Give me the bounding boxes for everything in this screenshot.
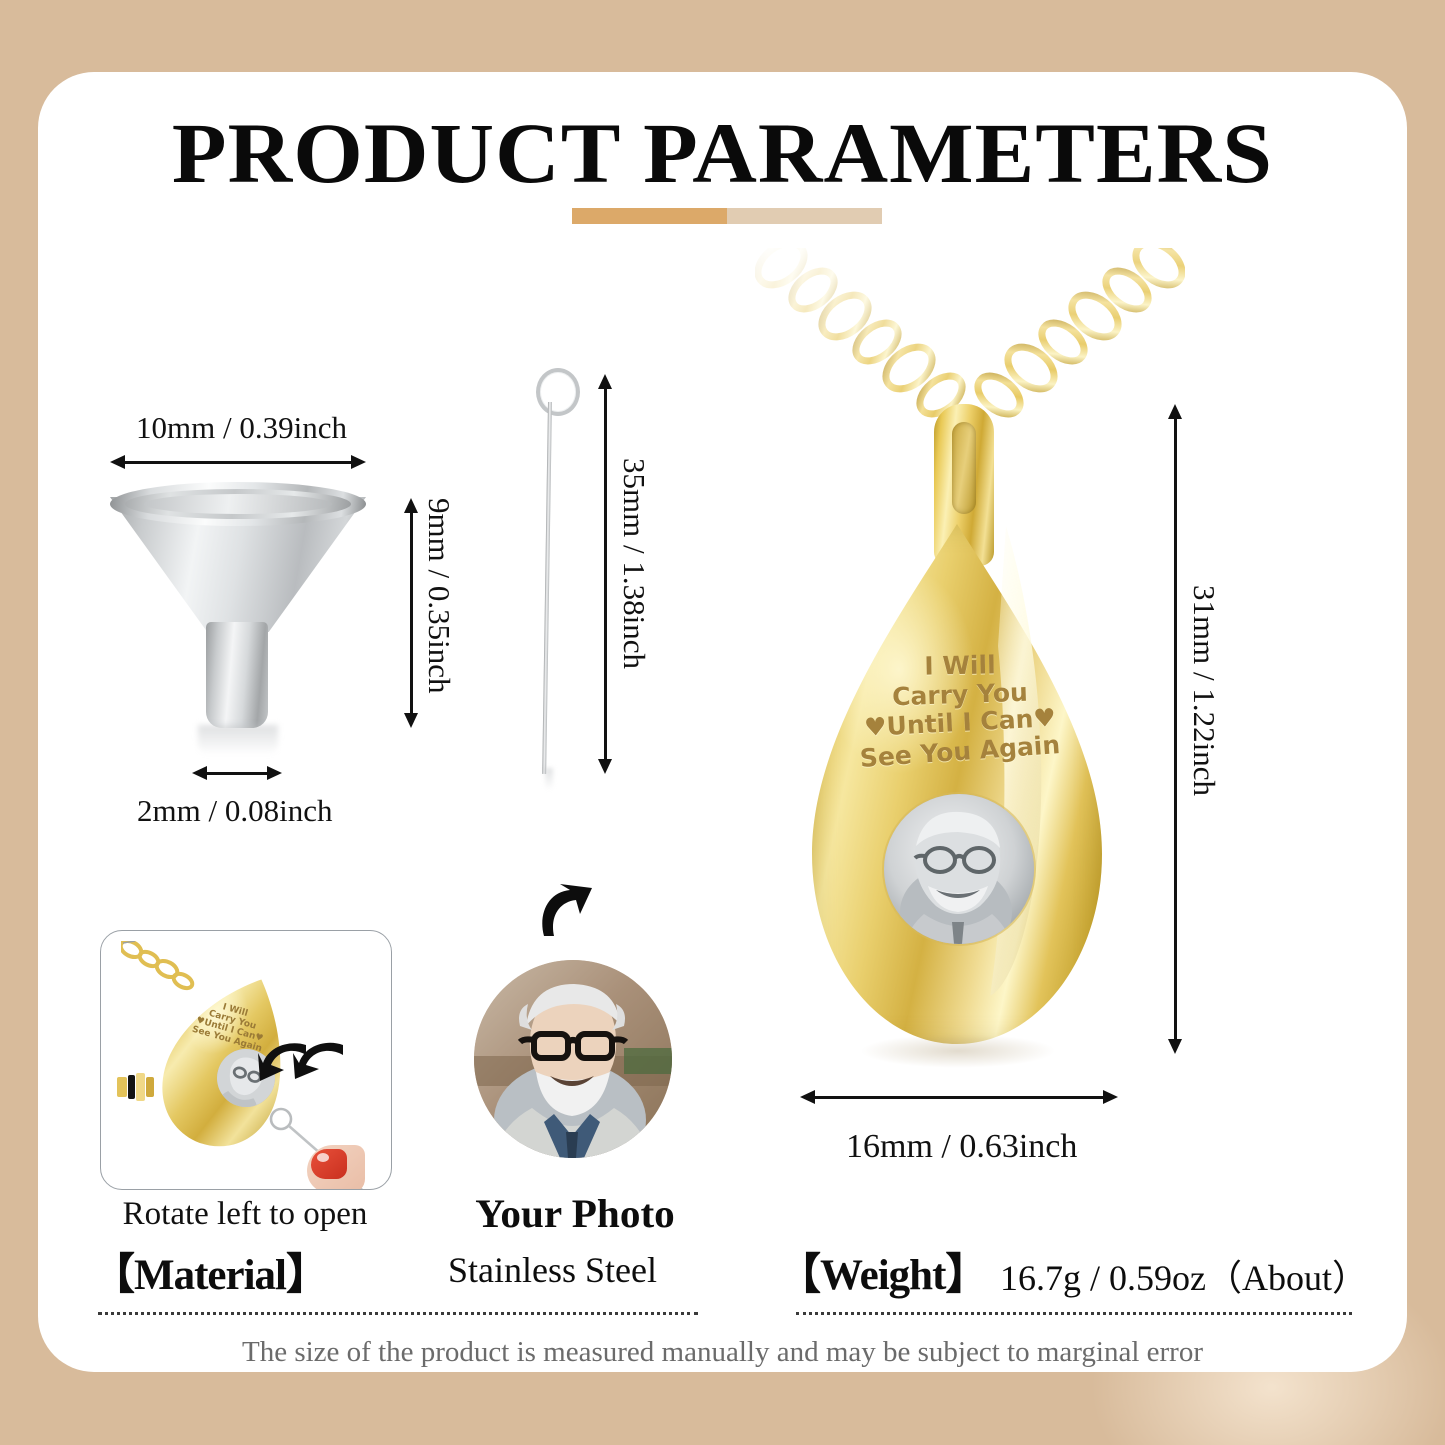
pendant-width-arrow [800, 1090, 1118, 1104]
funnel-spout [206, 622, 268, 728]
pin-length-arrow [598, 374, 612, 774]
weight-key: 【Weight】 [778, 1240, 987, 1302]
page-title: PRODUCT PARAMETERS [0, 103, 1445, 203]
pendant-height-arrow [1168, 404, 1182, 1054]
funnel-width-arrow [110, 455, 366, 469]
fingertip-illustration [307, 1137, 365, 1190]
pendant-photo-inset [884, 794, 1034, 944]
pendant-engraving: I Will Carry You ♥Until I Can♥ See You A… [850, 652, 1070, 766]
funnel-rim-inner2 [144, 494, 332, 514]
screw-cap-icon [115, 1069, 157, 1105]
weight-dotted-rule [796, 1312, 1352, 1315]
your-photo-caption: Your Photo [426, 1190, 725, 1237]
engraved-portrait-icon [884, 794, 1034, 944]
nail-gloss [317, 1153, 329, 1162]
your-photo-sample [474, 960, 672, 1158]
material-value: Stainless Steel [448, 1249, 657, 1291]
sample-portrait-photo [474, 960, 672, 1158]
infographic-root: PRODUCT PARAMETERS 10mm / 0.39inch 9mm /… [0, 0, 1445, 1445]
eye-pin-illustration [528, 368, 578, 778]
divider-segment-left [572, 208, 727, 224]
pin-length-label: 35mm / 1.38inch [616, 458, 652, 669]
eye-pin-shaft [542, 402, 552, 774]
eye-pin-loop [536, 368, 580, 416]
pendant-bail-hole [952, 422, 976, 514]
your-photo-arrow-icon [536, 884, 598, 940]
rotate-open-panel: I Will Carry You ♥Until I Can♥ See You A… [100, 930, 392, 1190]
funnel-illustration [110, 482, 366, 732]
measurement-disclaimer: The size of the product is measured manu… [0, 1336, 1445, 1369]
eye-pin-reflection [545, 768, 553, 790]
pendant-illustration: I Will Carry You ♥Until I Can♥ See You A… [812, 404, 1102, 1064]
funnel-width-label: 10mm / 0.39inch [136, 410, 347, 446]
pendant-width-label: 16mm / 0.63inch [846, 1128, 1077, 1166]
material-dotted-rule [98, 1312, 698, 1315]
fingernail [311, 1149, 347, 1179]
material-key: 【Material】 [92, 1240, 328, 1302]
rotate-open-caption: Rotate left to open [100, 1196, 390, 1233]
weight-value: 16.7g / 0.59oz（About） [1000, 1249, 1368, 1301]
funnel-spout-arrow [192, 766, 282, 780]
funnel-height-label: 9mm / 0.35inch [421, 498, 457, 693]
pendant-height-label: 31mm / 1.22inch [1186, 585, 1222, 796]
pendant-edge-shading [812, 524, 1102, 1044]
funnel-height-arrow [404, 498, 418, 728]
pendant-shadow [860, 1034, 1056, 1068]
divider-segment-right [727, 208, 882, 224]
title-divider [572, 208, 882, 224]
rotate-direction-arrow-icon [258, 1040, 312, 1086]
mini-chain-icon [121, 941, 211, 997]
funnel-reflection [198, 725, 278, 755]
funnel-spout-label: 2mm / 0.08inch [137, 793, 332, 829]
